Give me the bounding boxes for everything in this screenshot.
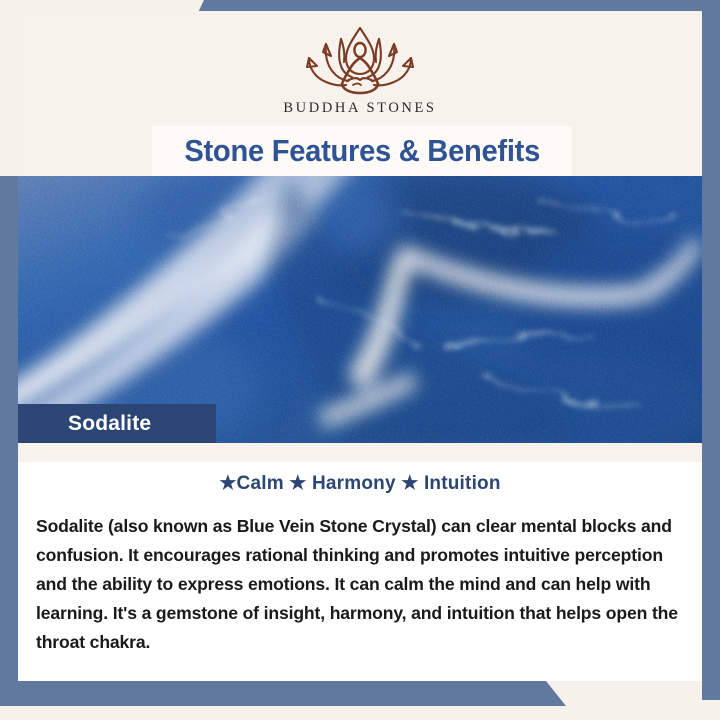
- stone-name-bar: Sodalite: [18, 404, 216, 443]
- lotus-meditation-icon: [285, 25, 435, 99]
- card-body: ★Calm ★ Harmony ★ Intuition Sodalite (al…: [18, 462, 702, 681]
- right-accent-rail: [702, 0, 720, 700]
- title-plate: Stone Features & Benefits: [152, 126, 572, 176]
- card-header: BUDDHA STONES Stone Features & Benefits: [18, 11, 702, 176]
- bottom-accent-band: [0, 681, 720, 706]
- section-separator: [18, 443, 702, 462]
- left-accent-rail: [0, 176, 18, 700]
- stone-info-card: BUDDHA STONES Stone Features & Benefits: [0, 0, 720, 720]
- sodalite-stone-photo: [18, 176, 702, 443]
- brand-logo: BUDDHA STONES: [18, 11, 702, 123]
- stone-name: Sodalite: [18, 412, 151, 436]
- page-title: Stone Features & Benefits: [184, 133, 540, 169]
- keyword-list: ★Calm ★ Harmony ★ Intuition: [18, 472, 702, 495]
- brand-name: BUDDHA STONES: [283, 100, 436, 117]
- stone-description: Sodalite (also known as Blue Vein Stone …: [36, 512, 688, 657]
